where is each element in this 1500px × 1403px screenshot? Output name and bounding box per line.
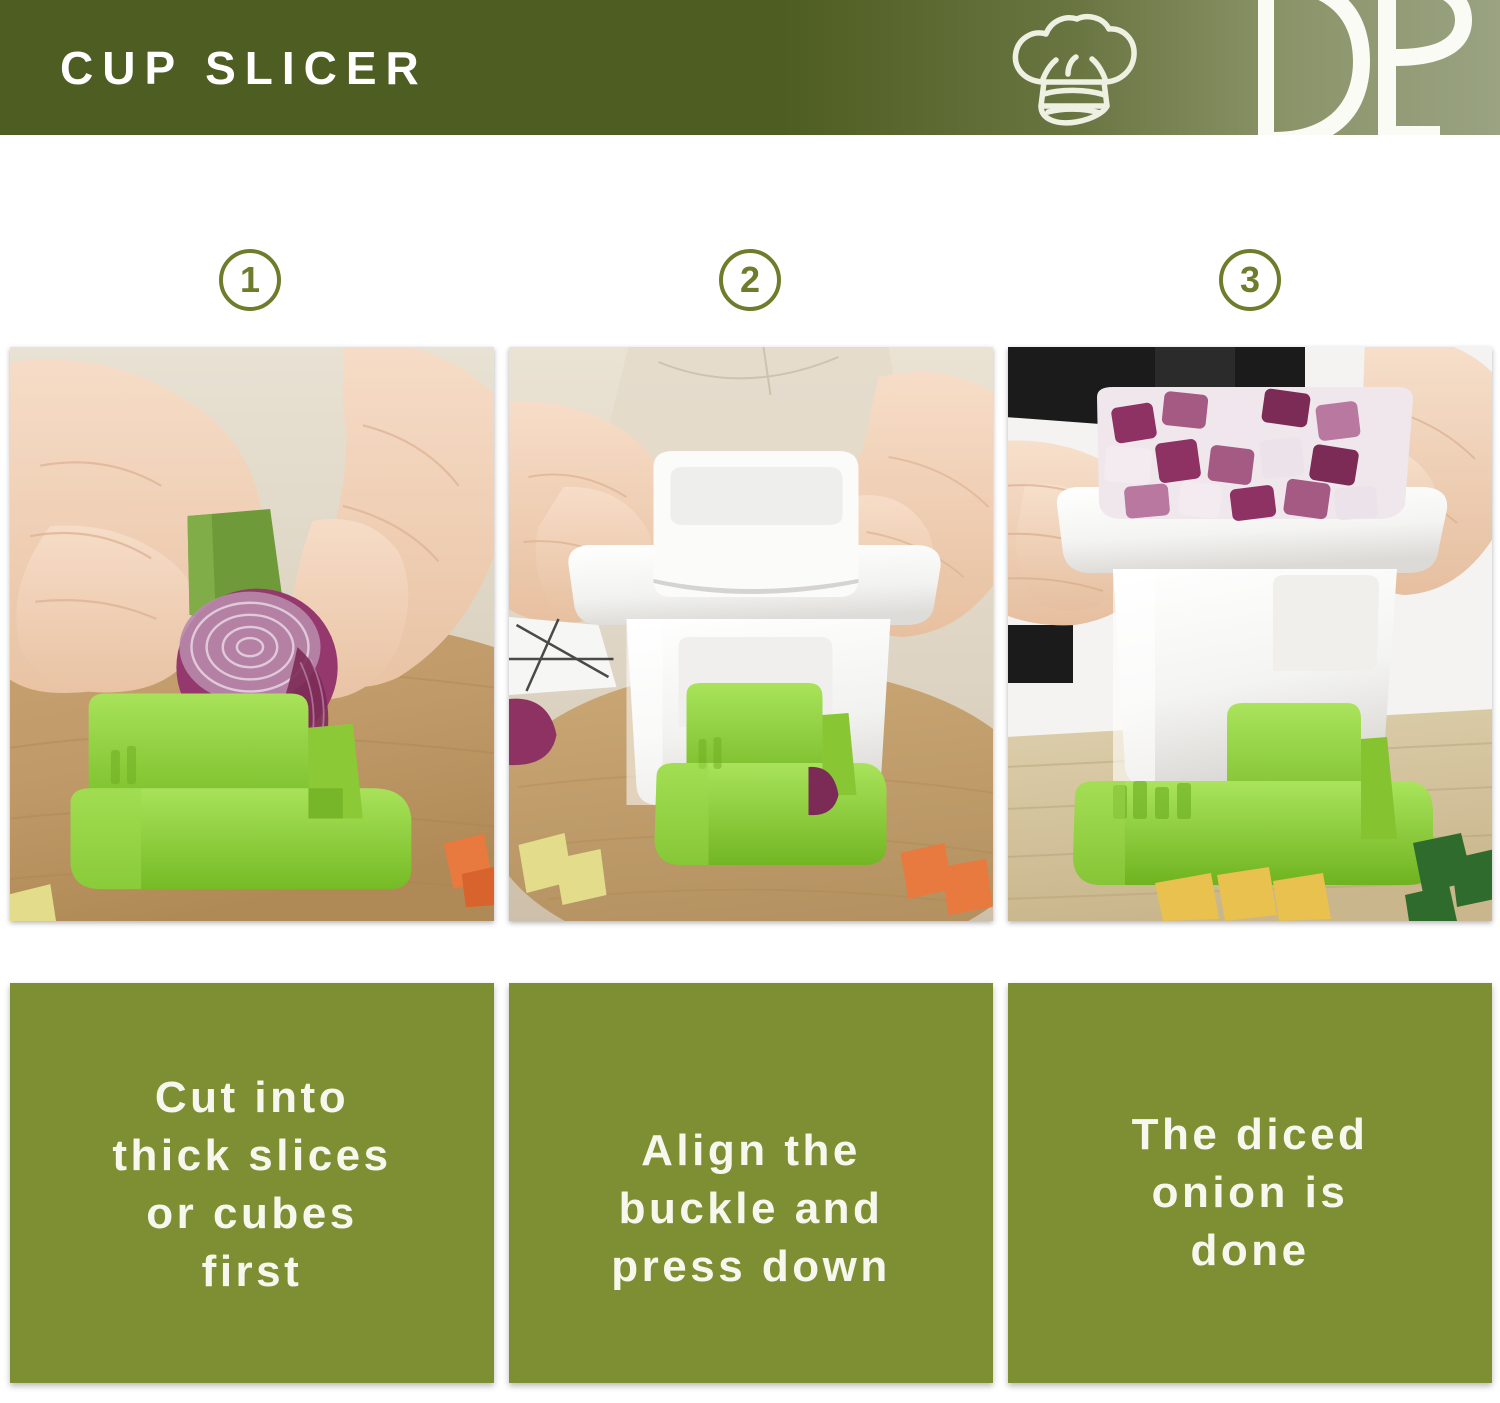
step-photo-2 bbox=[509, 347, 993, 921]
step-photo-3 bbox=[1008, 347, 1492, 921]
step-caption-box-1: Cut into thick slices or cubes first bbox=[10, 983, 494, 1383]
step-caption-box-3: The diced onion is done bbox=[1008, 983, 1492, 1383]
step-caption-box-2: Align the buckle and press down bbox=[509, 983, 993, 1383]
chef-hat-icon bbox=[1008, 12, 1140, 130]
step-badge-number-2: 2 bbox=[740, 262, 760, 298]
step-caption-text-2: Align the buckle and press down bbox=[611, 1122, 891, 1296]
header-banner: CUP SLICER bbox=[0, 0, 1500, 135]
photo-panels-row bbox=[10, 347, 1492, 921]
step-badge-2: 2 bbox=[719, 249, 781, 311]
step-caption-text-3: The diced onion is done bbox=[1132, 1106, 1369, 1280]
caption-boxes-row: Cut into thick slices or cubes first Ali… bbox=[10, 983, 1492, 1383]
page-title: CUP SLICER bbox=[60, 45, 428, 91]
step-badge-number-1: 1 bbox=[240, 262, 260, 298]
step-badge-cell-2: 2 bbox=[500, 248, 1000, 312]
step-badge-number-3: 3 bbox=[1240, 262, 1260, 298]
step-badges-row: 1 2 3 bbox=[0, 248, 1500, 312]
step-badge-1: 1 bbox=[219, 249, 281, 311]
brand-logo-dp bbox=[1250, 0, 1480, 135]
step-photo-1 bbox=[10, 347, 494, 921]
step-caption-text-1: Cut into thick slices or cubes first bbox=[112, 1069, 391, 1301]
step-badge-cell-3: 3 bbox=[1000, 248, 1500, 312]
step-badge-3: 3 bbox=[1219, 249, 1281, 311]
step-badge-cell-1: 1 bbox=[0, 248, 500, 312]
